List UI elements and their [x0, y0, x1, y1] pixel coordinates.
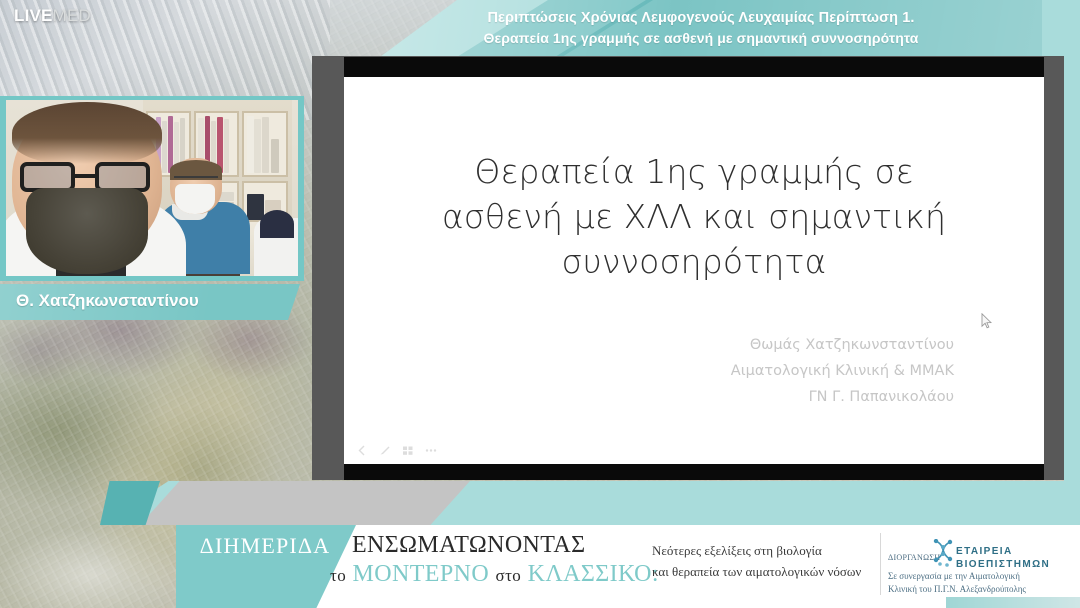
- right-accent-band-top: [1042, 0, 1064, 56]
- speaker-name-label: Θ. Χατζηκωνσταντίνου: [16, 291, 199, 311]
- video-surface: [6, 100, 298, 276]
- speaker-video-feed[interactable]: [0, 96, 304, 281]
- slide-author-department: Αιματολογική Κλινική & ΜΜΑΚ: [731, 358, 954, 384]
- session-title: Περιπτώσεις Χρόνιας Λεμφογενούς Λευχαιμί…: [330, 8, 1072, 48]
- presentation-slide[interactable]: Θεραπεία 1ης γραμμής σε ασθενή με ΧΛΛ κα…: [344, 77, 1044, 464]
- sponsor-cooperation: Σε συνεργασία με την Αιματολογική Κλινικ…: [888, 570, 1026, 596]
- grid-view-icon[interactable]: [402, 445, 414, 456]
- mouse-cursor: [981, 313, 992, 329]
- footer-divider: [880, 533, 881, 595]
- footer-title-word-sto: στο: [496, 566, 522, 585]
- slide-title-line-1: Θεραπεία 1ης γραμμής σε: [404, 149, 984, 194]
- previous-slide-icon[interactable]: [356, 445, 368, 456]
- sponsor-name-line-1: ΕΤΑΙΡΕΙΑ: [956, 545, 1050, 558]
- footer-title-line-1: ΕΝΣΩΜΑΤΩΝΟΝΤΑΣ: [352, 532, 586, 559]
- screen-root: Περιπτώσεις Χρόνιας Λεμφογενούς Λευχαιμί…: [0, 0, 1080, 608]
- decorative-strip: [0, 481, 1080, 525]
- second-person-mask: [175, 184, 215, 214]
- slide-letterbox-top: [344, 57, 1044, 77]
- footer-title-word-modern: ΜΟΝΤΕΡΝΟ: [353, 561, 490, 587]
- sponsor-coop-line-1: Σε συνεργασία με την Αιματολογική: [888, 570, 1026, 583]
- footer-subtitle: Νεότερες εξελίξεις στη βιολογία και θερα…: [652, 540, 861, 582]
- sponsor-name: ΕΤΑΙΡΕΙΑ ΒΙΟΕΠΙΣΤΗΜΩΝ: [956, 545, 1050, 571]
- footer-badge-label: ΔΙΗΜΕΡΙΔΑ: [190, 533, 340, 559]
- more-options-icon[interactable]: [425, 445, 437, 456]
- session-title-line-2: Θεραπεία 1ης γραμμής σε ασθενή με σημαντ…: [330, 28, 1072, 48]
- speaker-face-mask: [26, 188, 148, 274]
- sponsor-coop-line-2: Κλινική του Π.Γ.Ν. Αλεξανδρούπολης: [888, 583, 1026, 596]
- footer-title-word-classic: ΚΛΑΣΣΙΚΟ:: [528, 561, 659, 587]
- slide-title: Θεραπεία 1ης γραμμής σε ασθενή με ΧΛΛ κα…: [404, 149, 984, 284]
- session-title-line-1: Περιπτώσεις Χρόνιας Λεμφογενούς Λευχαιμί…: [330, 8, 1072, 28]
- slide-title-line-3: συννοσηρότητα: [404, 239, 984, 284]
- slide-letterbox-bottom: [344, 464, 1044, 480]
- strip-gray-wedge: [140, 481, 470, 525]
- sponsor-block: ΔΙΟΡΓΑΝΩΣΗ ΕΤΑΙΡΕΙΑ ΒΙΟΕΠΙΣΤΗΜΩΝ Σε συνε…: [888, 537, 1068, 599]
- second-person-glasses: [174, 176, 218, 184]
- livemed-logo[interactable]: LIVEMED: [14, 6, 91, 26]
- logo-text-live: LIVE: [14, 6, 53, 25]
- pen-icon[interactable]: [379, 445, 391, 456]
- header-bar: Περιπτώσεις Χρόνιας Λεμφογενούς Λευχαιμί…: [0, 0, 1080, 57]
- video-scene: [6, 100, 298, 276]
- speaker-nameplate: Θ. Χατζηκωνσταντίνου: [0, 284, 300, 320]
- molecule-icon: [932, 539, 954, 567]
- slide-author-name: Θωμάς Χατζηκωνσταντίνου: [731, 332, 954, 358]
- third-person-head: [260, 210, 294, 238]
- slide-title-line-2: ασθενή με ΧΛΛ και σημαντική: [404, 194, 984, 239]
- footer-subtitle-line-1: Νεότερες εξελίξεις στη βιολογία: [652, 540, 861, 561]
- slide-author-block: Θωμάς Χατζηκωνσταντίνου Αιματολογική Κλι…: [731, 332, 954, 410]
- slide-author-hospital: ΓΝ Γ. Παπανικολάου: [731, 384, 954, 410]
- footer-title-word-to: το: [330, 566, 346, 585]
- speaker-hair: [12, 102, 162, 164]
- footer-title-line-2: το ΜΟΝΤΕΡΝΟ στο ΚΛΑΣΣΙΚΟ:: [330, 561, 659, 588]
- right-accent-band: [1064, 0, 1080, 524]
- footer-subtitle-line-2: και θεραπεία των αιματολογικών νόσων: [652, 561, 861, 582]
- presentation-toolbar[interactable]: [356, 445, 437, 456]
- footer-bottom-accent: [946, 597, 1080, 608]
- logo-text-med: MED: [53, 6, 91, 25]
- event-footer: ΔΙΗΜΕΡΙΔΑ ΕΝΣΩΜΑΤΩΝΟΝΤΑΣ το ΜΟΝΤΕΡΝΟ στο…: [0, 525, 1080, 608]
